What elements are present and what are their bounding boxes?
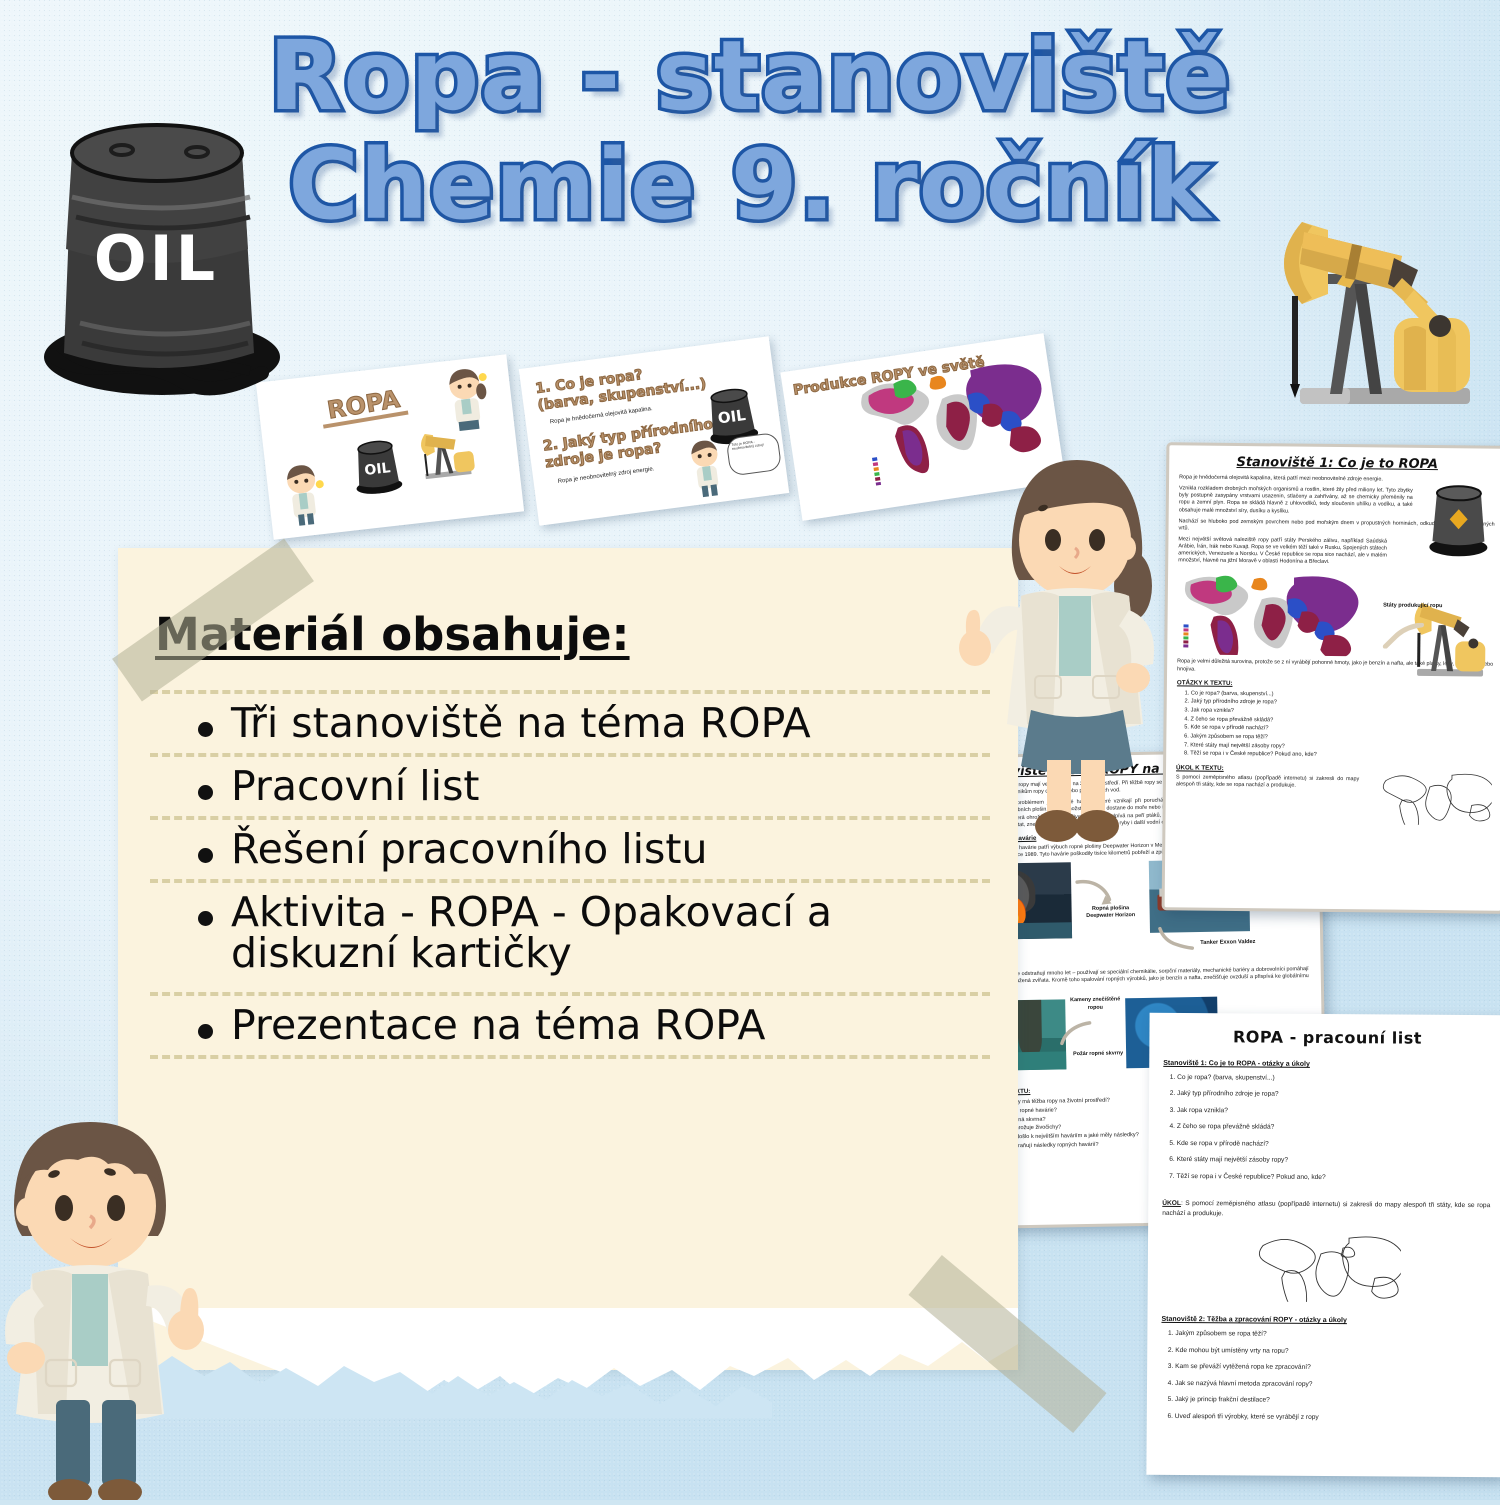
doc-pl-section1-heading: Stanoviště 1: Co je to ROPA - otázky a ú… [1163, 1060, 1491, 1069]
list-item: Aktivita - ROPA - Opakovací a diskuzní k… [150, 879, 990, 992]
doc-st1-questions-list: Co je ropa? (barva, skupenství...) Jaký … [1190, 689, 1493, 761]
doc-st1-map-caption: Státy produkující ropu [1378, 603, 1448, 610]
bullet-dot-icon [198, 848, 213, 863]
doc-st3-arrow-3-icon [1058, 1021, 1094, 1048]
doc-pl-s2-q6: Uveď alespoň tři výrobky, které se vyráb… [1175, 1409, 1489, 1428]
doc-pl-s2-q1: Jakým způsobem se ropa těží? [1175, 1326, 1489, 1345]
doc-st1-arrow-icon [1381, 623, 1425, 649]
doc-st3-caption-exxon: Tanker Exxon Valdez [1200, 938, 1290, 946]
document-pracovni-list[interactable]: ROPA - pracouní list Stanoviště 1: Co je… [1146, 1013, 1500, 1477]
list-item-label: Aktivita - ROPA - Opakovací a diskuzní k… [231, 892, 990, 974]
slide2-speech-bubble: Toto je ROPA - neobnovitelný zdroj! [726, 432, 783, 476]
doc-st1-q8: Těží se ropa i v České republice? Pokud … [1190, 750, 1492, 762]
scientist-boy-icon [0, 1108, 226, 1500]
slide1-boy-icon [278, 462, 331, 529]
doc-st3-caption-slick: Požár ropné skvrny [1070, 1051, 1126, 1059]
doc-st3-closing-para: Následky havárií se odstraňují mnoho let… [973, 966, 1309, 993]
list-item-label: Prezentace na téma ROPA [231, 1005, 990, 1046]
doc-st1-world-map [1177, 569, 1368, 657]
doc-st1-para-1: Ropa je hnědočerná olejovitá kapalina, k… [1179, 474, 1413, 484]
doc-pl-section1-questions: Co je ropa? (barva, skupenství...) Jaký … [1176, 1070, 1491, 1188]
doc-pl-blank-map-icon [1251, 1228, 1402, 1303]
doc-pl-section2-questions: Jakým způsobem se ropa těží? Kde mohou b… [1175, 1326, 1490, 1427]
oil-pumpjack-icon [1242, 198, 1500, 442]
slide2-answer-2: Ropa je neobnovitelný zdroj energie. [557, 466, 654, 485]
list-item-label: Tři stanoviště na téma ROPA [231, 703, 990, 744]
doc-st1-barrel-icon [1426, 479, 1493, 558]
svg-text:OIL: OIL [94, 222, 218, 295]
bullet-dot-icon [198, 722, 213, 737]
list-item: Tři stanoviště na téma ROPA [150, 690, 990, 753]
slide-thumbnail-2[interactable]: 1. Co je ropa? (barva, skupenství...) Ro… [519, 336, 789, 526]
doc-st1-para-4: Mezi největší světová naleziště ropy pat… [1178, 536, 1387, 567]
list-item-label: Pracovní list [231, 766, 990, 807]
doc-st1-title: Stanoviště 1: Co je to ROPA [1169, 445, 1500, 478]
slide1-barrel-icon: OIL [348, 429, 405, 496]
document-stanoviste-1[interactable]: Stanoviště 1: Co je to ROPA Ropa je hněd… [1162, 442, 1500, 914]
list-item-label: Řešení pracovního listu [231, 829, 990, 870]
bullet-dot-icon [198, 1024, 213, 1039]
slide2-boy-icon [682, 437, 733, 500]
bullet-dot-icon [198, 785, 213, 800]
doc-st1-task-text: S pomocí zeměpisného atlasu (popřípadě i… [1176, 774, 1359, 790]
doc-st3-caption-rocks: Kameny znečištěné ropou [1069, 997, 1121, 1012]
doc-st3-arrow-2-icon [1158, 926, 1198, 953]
torn-paper-edge [118, 1308, 1018, 1418]
svg-text:OIL: OIL [717, 406, 747, 428]
bullet-dot-icon [198, 911, 213, 926]
doc-st1-blank-map-icon [1375, 766, 1492, 825]
slide1-girl-icon [438, 364, 498, 441]
doc-pl-s1-q7: Těží se ropa i v České republice? Pokud … [1176, 1169, 1490, 1188]
list-item: Prezentace na téma ROPA [150, 992, 990, 1055]
doc-pl-task-label: ÚKOL [1162, 1200, 1181, 1207]
materials-list: Tři stanoviště na téma ROPA Pracovní lis… [150, 690, 990, 1059]
doc-st1-para-2: Vznikla rozkladem drobných mořských orga… [1179, 485, 1413, 516]
doc-pl-title: ROPA - pracouní list [1149, 1013, 1500, 1056]
doc-pl-s2-q5: Jaký je princip frakční destilace? [1175, 1392, 1489, 1411]
list-item: Řešení pracovního listu [150, 816, 990, 879]
list-item: Pracovní list [150, 753, 990, 816]
doc-pl-s2-q3: Kam se převáží vytěžená ropa ke zpracová… [1175, 1359, 1489, 1378]
doc-st3-arrow-1-icon [1075, 878, 1112, 909]
doc-st3-caption-deepwater: Ropná plošina Deepwater Horizon [1080, 905, 1142, 921]
slide-thumbnail-1[interactable]: ROPA OIL [256, 354, 524, 540]
doc-pl-s1-q6: Které státy mají největší zásoby ropy? [1177, 1152, 1491, 1171]
svg-text:OIL: OIL [364, 460, 392, 479]
doc-pl-section2-heading: Stanoviště 2: Těžba a zpracování ROPY - … [1161, 1316, 1489, 1325]
oil-barrel-icon: OIL [22, 105, 292, 405]
doc-pl-task-text: : S pomocí zeměpisného atlasu (popřípadě… [1162, 1200, 1490, 1217]
scientist-girl-icon [955, 448, 1195, 848]
slide2-bubble-text: Toto je ROPA - neobnovitelný zdroj! [731, 440, 764, 451]
